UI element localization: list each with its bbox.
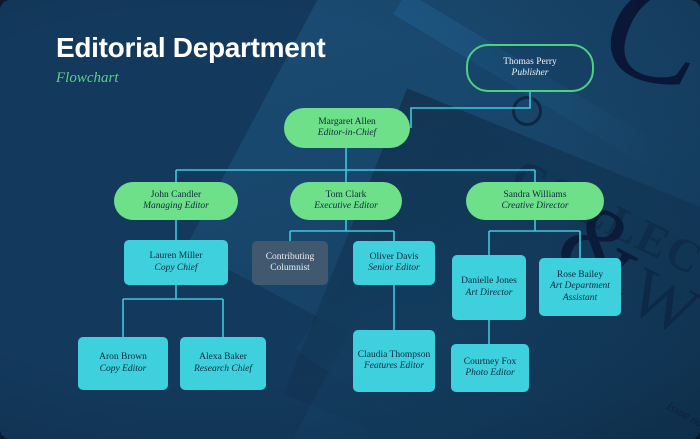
node-copy-chief[interactable]: Lauren Miller Copy Chief	[124, 240, 228, 285]
node-name: Rose Bailey	[557, 270, 603, 281]
node-name: Alexa Baker	[199, 352, 247, 363]
node-name: Tom Clark	[326, 190, 367, 201]
node-features-editor[interactable]: Claudia Thompson Features Editor	[353, 330, 435, 392]
node-role: Photo Editor	[465, 368, 514, 379]
node-role: Senior Editor	[368, 263, 419, 274]
node-role: Managing Editor	[143, 201, 209, 212]
node-name: Sandra Williams	[503, 190, 566, 201]
node-role: Art Department Assistant	[539, 281, 621, 303]
node-role: Copy Chief	[154, 263, 197, 274]
slide-canvas: C & COLLECTION W SUMMER 2017 Issue no. E…	[0, 0, 700, 439]
node-name: John Candler	[151, 190, 201, 201]
node-role: Publisher	[512, 68, 549, 79]
node-role: Editor-in-Chief	[318, 128, 376, 139]
node-managing-editor[interactable]: John Candler Managing Editor	[114, 182, 238, 220]
node-name: Danielle Jones	[461, 276, 517, 287]
node-role: Copy Editor	[100, 364, 147, 375]
node-research-chief[interactable]: Alexa Baker Research Chief	[180, 337, 266, 390]
node-name: Oliver Davis	[370, 252, 419, 263]
node-name: Courtney Fox	[464, 357, 517, 368]
node-role: Features Editor	[364, 361, 424, 372]
node-role: Columnist	[270, 263, 310, 274]
node-role: Creative Director	[501, 201, 568, 212]
node-art-director[interactable]: Danielle Jones Art Director	[452, 255, 526, 320]
node-role: Art Director	[466, 288, 513, 299]
node-name: Aron Brown	[99, 352, 147, 363]
node-role: Research Chief	[194, 364, 252, 375]
node-creative-director[interactable]: Sandra Williams Creative Director	[466, 182, 604, 220]
node-name: Lauren Miller	[149, 251, 202, 262]
node-copy-editor[interactable]: Aron Brown Copy Editor	[78, 337, 168, 390]
node-contributing-columnist[interactable]: Contributing Columnist	[252, 241, 328, 285]
node-publisher[interactable]: Thomas Perry Publisher	[466, 44, 594, 92]
node-name: Thomas Perry	[503, 57, 557, 68]
node-photo-editor[interactable]: Courtney Fox Photo Editor	[451, 344, 529, 392]
node-art-department-assistant[interactable]: Rose Bailey Art Department Assistant	[539, 258, 621, 316]
node-name: Contributing	[266, 252, 315, 263]
node-name: Claudia Thompson	[358, 350, 430, 361]
node-executive-editor[interactable]: Tom Clark Executive Editor	[290, 182, 402, 220]
node-senior-editor[interactable]: Oliver Davis Senior Editor	[353, 241, 435, 285]
node-name: Margaret Allen	[318, 117, 376, 128]
node-role: Executive Editor	[314, 201, 378, 212]
node-editor-in-chief[interactable]: Margaret Allen Editor-in-Chief	[284, 108, 410, 148]
